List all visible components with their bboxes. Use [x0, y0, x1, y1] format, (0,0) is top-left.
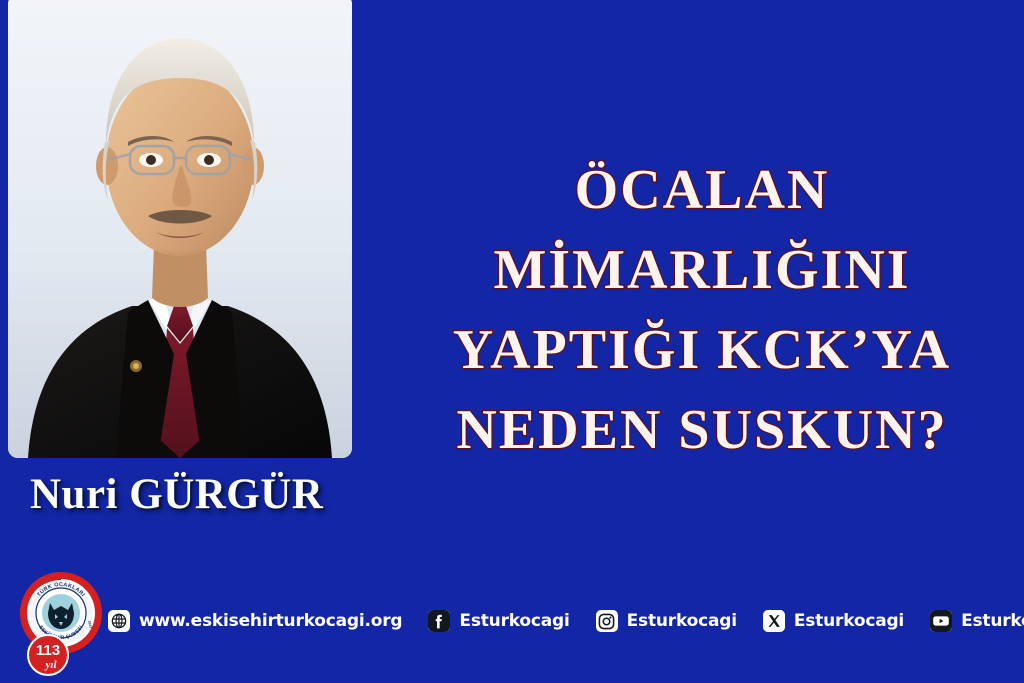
globe-icon	[108, 610, 130, 632]
instagram-icon	[596, 610, 618, 632]
turk-ocaklari-logo: TÜRK OCAKLARI ESKİŞEHİR ŞUBESİ 1912 113 …	[18, 569, 104, 677]
social-item-facebook[interactable]: Esturkocagi	[428, 610, 569, 632]
social-label-facebook: Esturkocagi	[459, 611, 569, 631]
social-item-website[interactable]: www.eskisehirturkocagi.org	[108, 610, 402, 632]
social-item-youtube[interactable]: Esturkocagi	[930, 610, 1024, 632]
social-label-website: www.eskisehirturkocagi.org	[139, 611, 402, 631]
headline-line-3: YAPTIĞI KCK’YA	[382, 310, 1022, 390]
youtube-icon	[930, 610, 952, 632]
x-twitter-icon	[763, 610, 785, 632]
headline-block: ÖCALAN MİMARLIĞINI YAPTIĞI KCK’YA NEDEN …	[382, 150, 1022, 470]
social-label-instagram: Esturkocagi	[627, 611, 737, 631]
poster-canvas: ESTURKOCAGİ	[0, 0, 1024, 683]
logo-badge-unit: yıl	[44, 659, 58, 671]
portrait-photo	[8, 0, 352, 458]
portrait-illustration	[8, 0, 352, 458]
social-links-row: www.eskisehirturkocagi.org Esturkocagi	[108, 603, 1024, 639]
headline-line-4: NEDEN SUSKUN?	[382, 390, 1022, 470]
author-name: Nuri GÜRGÜR	[30, 470, 323, 519]
logo-emblem: TÜRK OCAKLARI ESKİŞEHİR ŞUBESİ 1912 113 …	[18, 569, 104, 677]
social-label-x-twitter: Esturkocagi	[794, 611, 904, 631]
social-item-instagram[interactable]: Esturkocagi	[596, 610, 737, 632]
footer-bar: TÜRK OCAKLARI ESKİŞEHİR ŞUBESİ 1912 113 …	[0, 565, 1024, 683]
logo-badge-number: 113	[36, 642, 60, 659]
headline-line-2: MİMARLIĞINI	[382, 230, 1022, 310]
headline-line-1: ÖCALAN	[382, 150, 1022, 230]
social-label-youtube: Esturkocagi	[961, 611, 1024, 631]
social-item-x-twitter[interactable]: Esturkocagi	[763, 610, 904, 632]
facebook-icon	[428, 610, 450, 632]
